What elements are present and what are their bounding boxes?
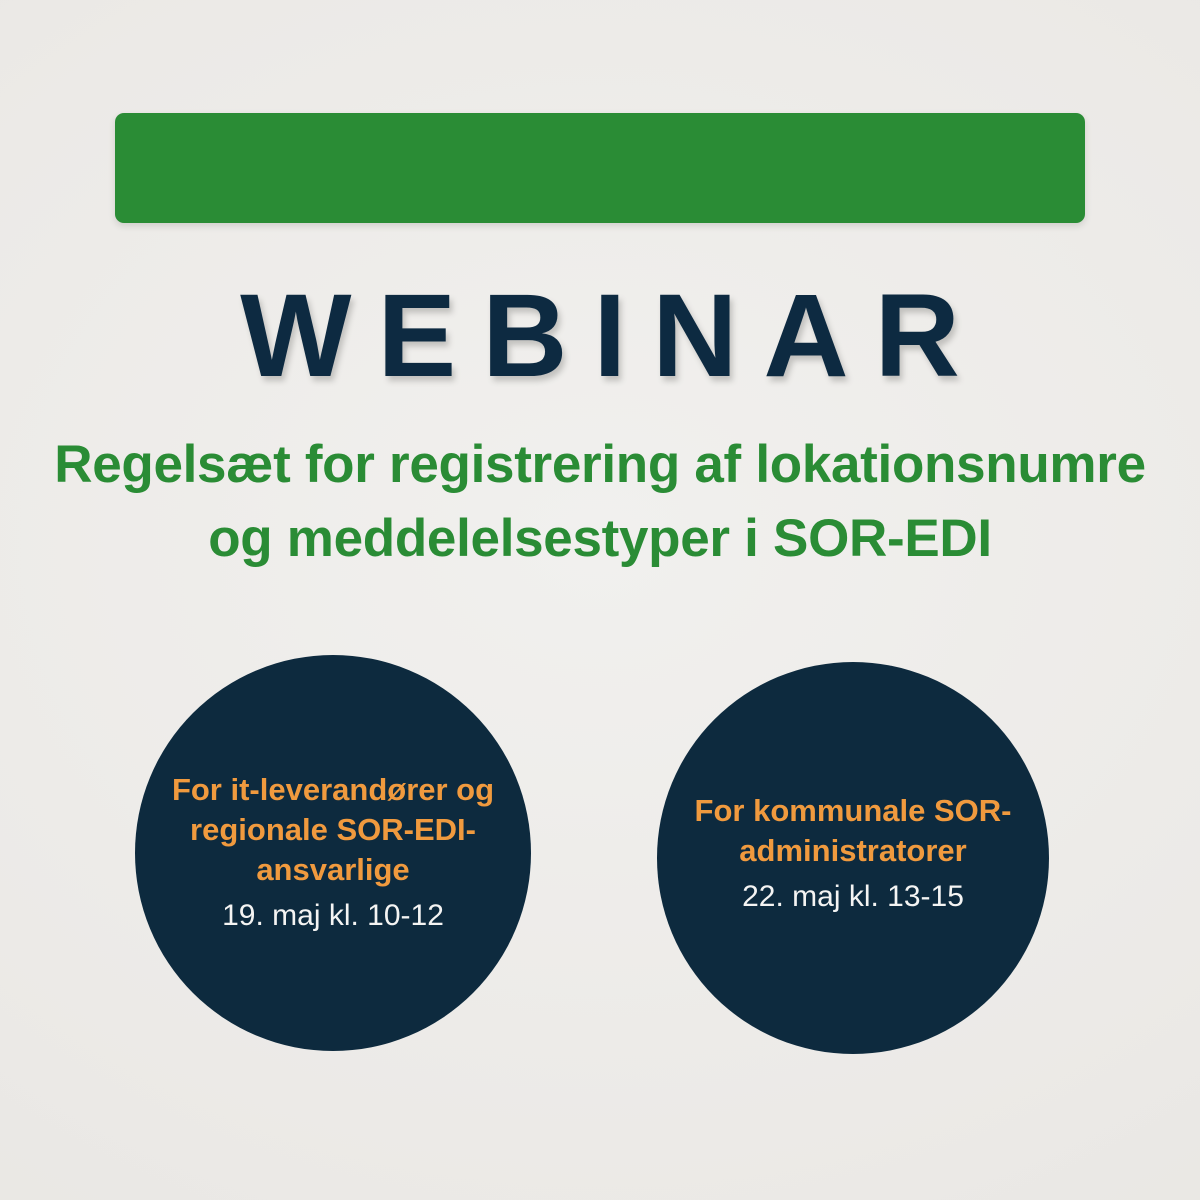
session-circle-kommunale-administratorer[interactable]: For kommunale SOR-administratorer 22. ma… [657,662,1049,1054]
session-date-label: 19. maj kl. 10-12 [222,896,444,936]
page-title: WEBINAR [0,277,1200,395]
webinar-poster: WEBINAR Regelsæt for registrering af lok… [0,0,1200,1200]
subtitle-line-2: og meddelelsestyper i SOR-EDI [0,502,1200,576]
session-audience-label: For kommunale SOR-administratorer [676,791,1031,871]
session-circle-it-leverandoerer[interactable]: For it-leverandører og regionale SOR-EDI… [135,655,531,1051]
green-banner [115,113,1085,223]
session-body: For it-leverandører og regionale SOR-EDI… [168,770,498,936]
subtitle-line-1: Regelsæt for registrering af lokationsnu… [0,428,1200,502]
subtitle: Regelsæt for registrering af lokationsnu… [0,428,1200,576]
session-body: For kommunale SOR-administratorer 22. ma… [676,791,1031,917]
session-date-label: 22. maj kl. 13-15 [742,877,964,917]
session-audience-label: For it-leverandører og regionale SOR-EDI… [168,770,498,890]
